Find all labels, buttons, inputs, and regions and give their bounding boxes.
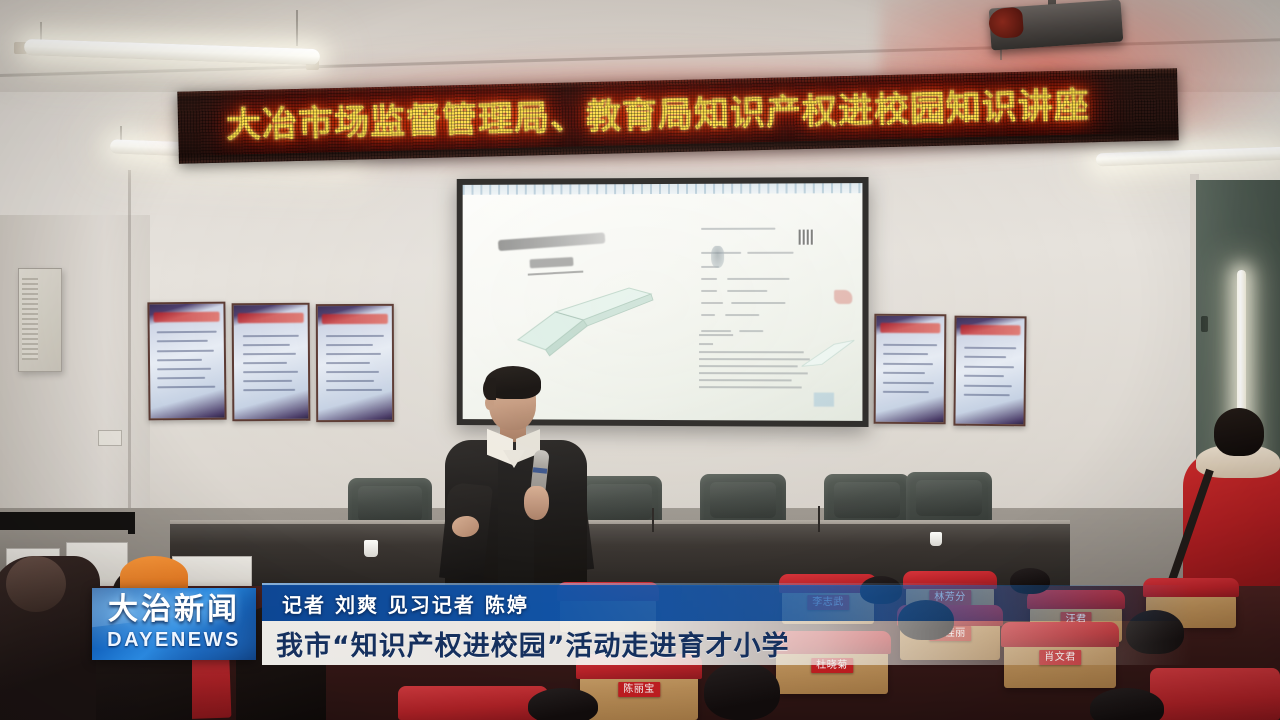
paper-cup [364, 540, 378, 557]
reporter-credit: 记者 刘爽 见习记者 陈婷 [282, 589, 529, 617]
wall-poster [232, 303, 311, 422]
slide-title-text [498, 232, 606, 251]
auditorium-seat [398, 686, 548, 720]
slide-signature-mark [711, 246, 724, 268]
slide-red-accent [834, 290, 852, 304]
foreground-attendee-head [6, 556, 66, 612]
table-microphone [652, 508, 654, 532]
poster-header [322, 314, 387, 324]
attendee-head [1090, 688, 1164, 720]
wall-poster [953, 316, 1026, 427]
attendee-head [704, 662, 780, 720]
door-handle[interactable] [1201, 316, 1208, 332]
poster-header [154, 312, 219, 323]
tube-rod [296, 10, 298, 46]
presenter-right-hand [524, 486, 549, 520]
table-microphone [818, 506, 820, 532]
wall-switch[interactable] [98, 430, 122, 446]
slide-blue-accent [814, 393, 834, 407]
slide-3d-model-icon [510, 274, 659, 358]
paper-cup [930, 532, 942, 546]
slide-subtitle-text [530, 257, 574, 268]
attendee-head [528, 688, 598, 720]
slide-secondary-model-icon [800, 336, 859, 370]
auditorium-seat [1150, 668, 1280, 720]
wall-poster [316, 304, 394, 422]
slide-patent-document [701, 226, 818, 347]
electrical-panel-vent [22, 278, 38, 360]
presenter-sweater [498, 452, 534, 586]
poster-header [960, 325, 1020, 335]
slide-header-band [463, 183, 863, 195]
channel-logo-cn: 大治新闻 [92, 595, 256, 625]
auditorium-seat: 陈丽宝 [580, 672, 698, 720]
qr-code-icon [799, 230, 814, 245]
headline-text: 我市“知识产权进校园”活动走进育才小学 [276, 624, 790, 662]
seat-nametag: 陈丽宝 [618, 682, 660, 697]
poster-header [880, 323, 940, 333]
wall-poster [874, 314, 947, 425]
wall-poster [147, 302, 226, 421]
channel-logo-en: DAYENEWS [92, 630, 256, 650]
poster-header [238, 313, 303, 324]
broadcast-frame: 大冶市场监督管理局、教育局知识产权进校园知识讲座 [0, 0, 1280, 720]
attendee-head [1214, 408, 1264, 456]
channel-logo: 大治新闻 DAYENEWS [92, 588, 256, 660]
presenter-hair-side [483, 378, 496, 400]
